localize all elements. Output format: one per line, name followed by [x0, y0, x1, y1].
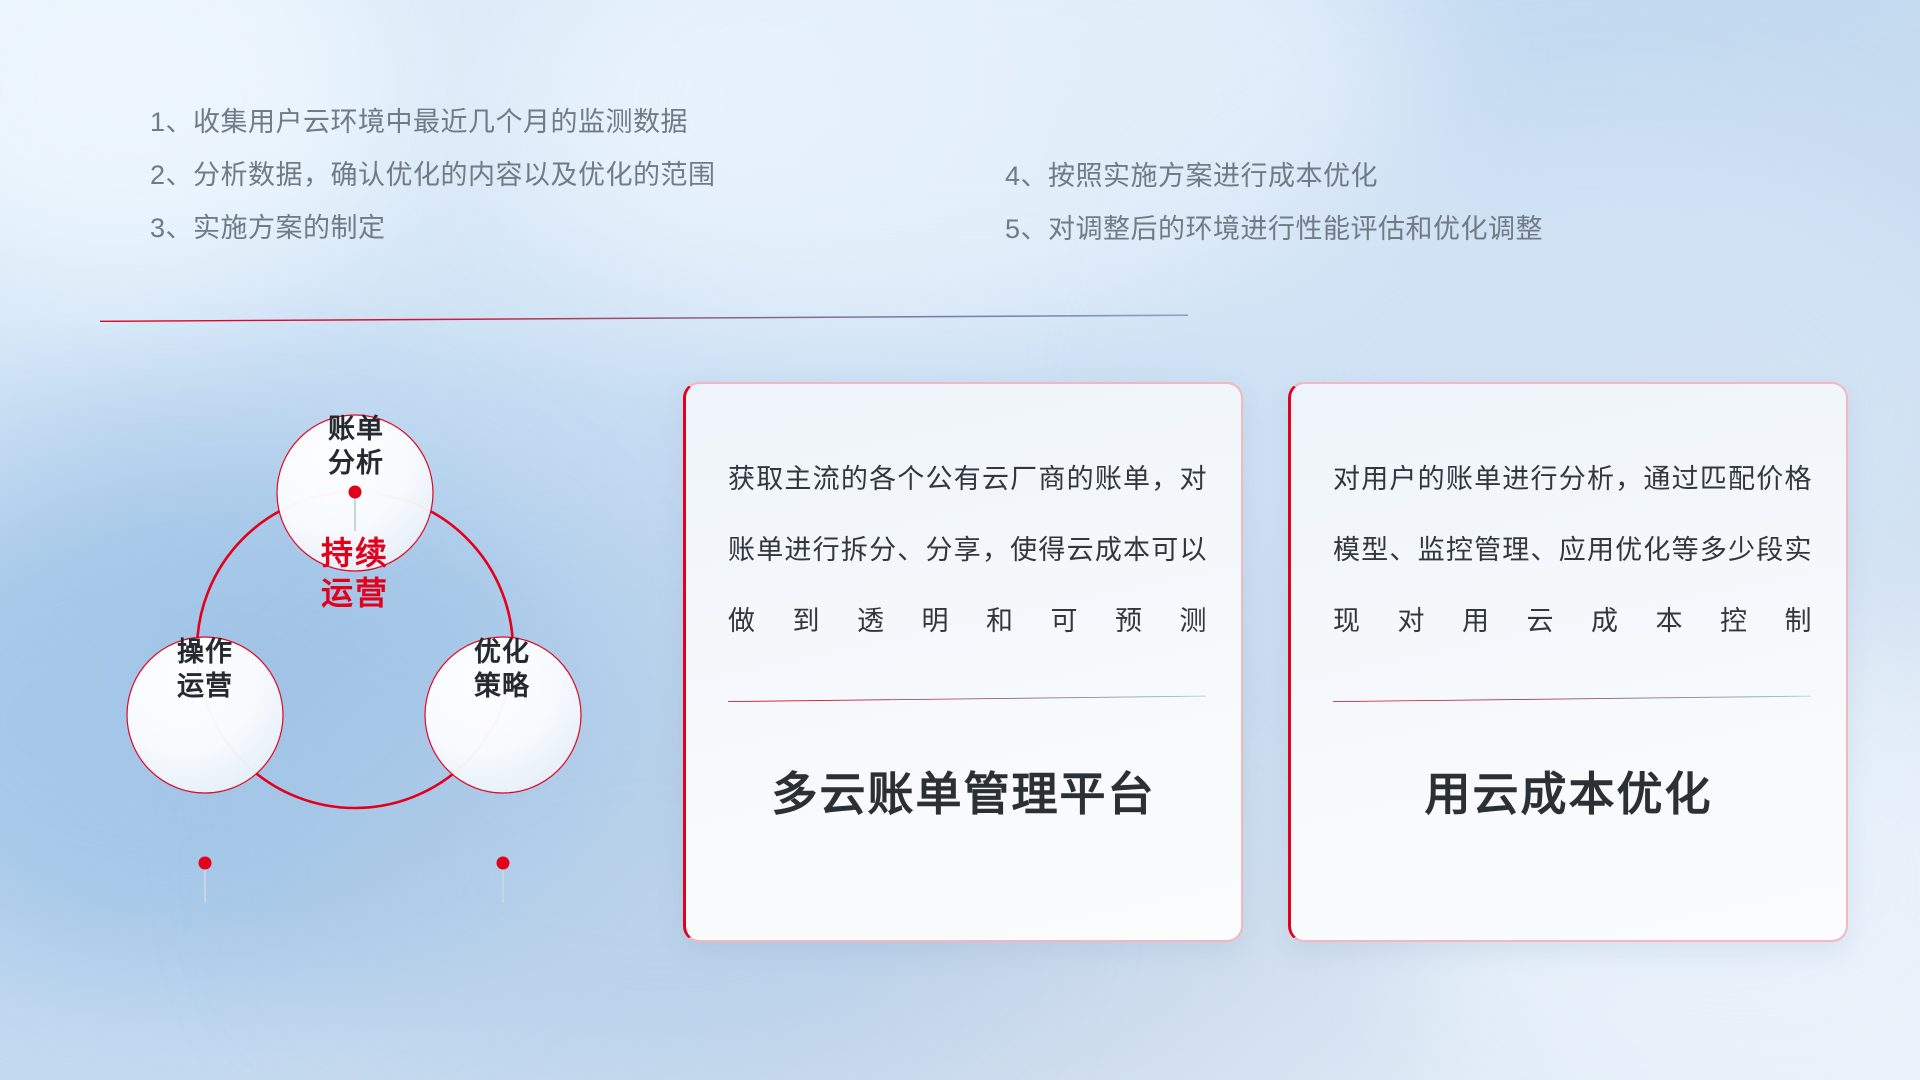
step-item: 5、对调整后的环境进行性能评估和优化调整 [1005, 203, 1543, 256]
node-label-line: 操作 [120, 635, 290, 669]
node-label-optimization: 优化 策略 [417, 635, 587, 703]
steps-list-right: 4、按照实施方案进行成本优化 5、对调整后的环境进行性能评估和优化调整 [1005, 150, 1543, 256]
connector-dot [349, 486, 362, 499]
card-title: 用云成本优化 [1291, 758, 1846, 824]
card-divider [728, 694, 1206, 702]
connector-dot [199, 857, 212, 870]
cycle-center-label: 持续 运营 [250, 533, 460, 613]
step-item: 1、收集用户云环境中最近几个月的监测数据 [150, 96, 716, 149]
card-divider [1333, 694, 1811, 702]
connector-dot [497, 857, 510, 870]
step-item: 3、实施方案的制定 [150, 202, 716, 255]
section-divider [100, 312, 1188, 322]
card-body-text: 对用户的账单进行分析，通过匹配价格模型、监控管理、应用优化等多少段实现对用云成本… [1333, 444, 1812, 657]
node-label-line: 策略 [417, 669, 587, 703]
card-body-text: 获取主流的各个公有云厂商的账单，对账单进行拆分、分享，使得云成本可以做到透明和可… [728, 444, 1207, 657]
feature-card-cloud-cost-optimization[interactable]: 对用户的账单进行分析，通过匹配价格模型、监控管理、应用优化等多少段实现对用云成本… [1288, 382, 1848, 942]
step-item: 4、按照实施方案进行成本优化 [1005, 150, 1543, 203]
center-label-line: 运营 [250, 573, 460, 613]
feature-card-multi-cloud-billing-platform[interactable]: 获取主流的各个公有云厂商的账单，对账单进行拆分、分享，使得云成本可以做到透明和可… [683, 382, 1243, 942]
node-label-line: 优化 [417, 635, 587, 669]
steps-list-left: 1、收集用户云环境中最近几个月的监测数据 2、分析数据，确认优化的内容以及优化的… [150, 96, 716, 255]
node-label-operations: 操作 运营 [120, 635, 290, 703]
slide-canvas: 1、收集用户云环境中最近几个月的监测数据 2、分析数据，确认优化的内容以及优化的… [0, 0, 1920, 1080]
node-label-billing-analysis: 账单 分析 [271, 412, 441, 480]
card-title: 多云账单管理平台 [686, 758, 1241, 824]
node-label-line: 分析 [271, 446, 441, 480]
node-label-line: 账单 [271, 412, 441, 446]
cycle-diagram: 账单 分析 操作 运营 优化 策略 持续 运营 [95, 355, 655, 945]
node-label-line: 运营 [120, 669, 290, 703]
step-item: 2、分析数据，确认优化的内容以及优化的范围 [150, 149, 716, 202]
center-label-line: 持续 [250, 533, 460, 573]
